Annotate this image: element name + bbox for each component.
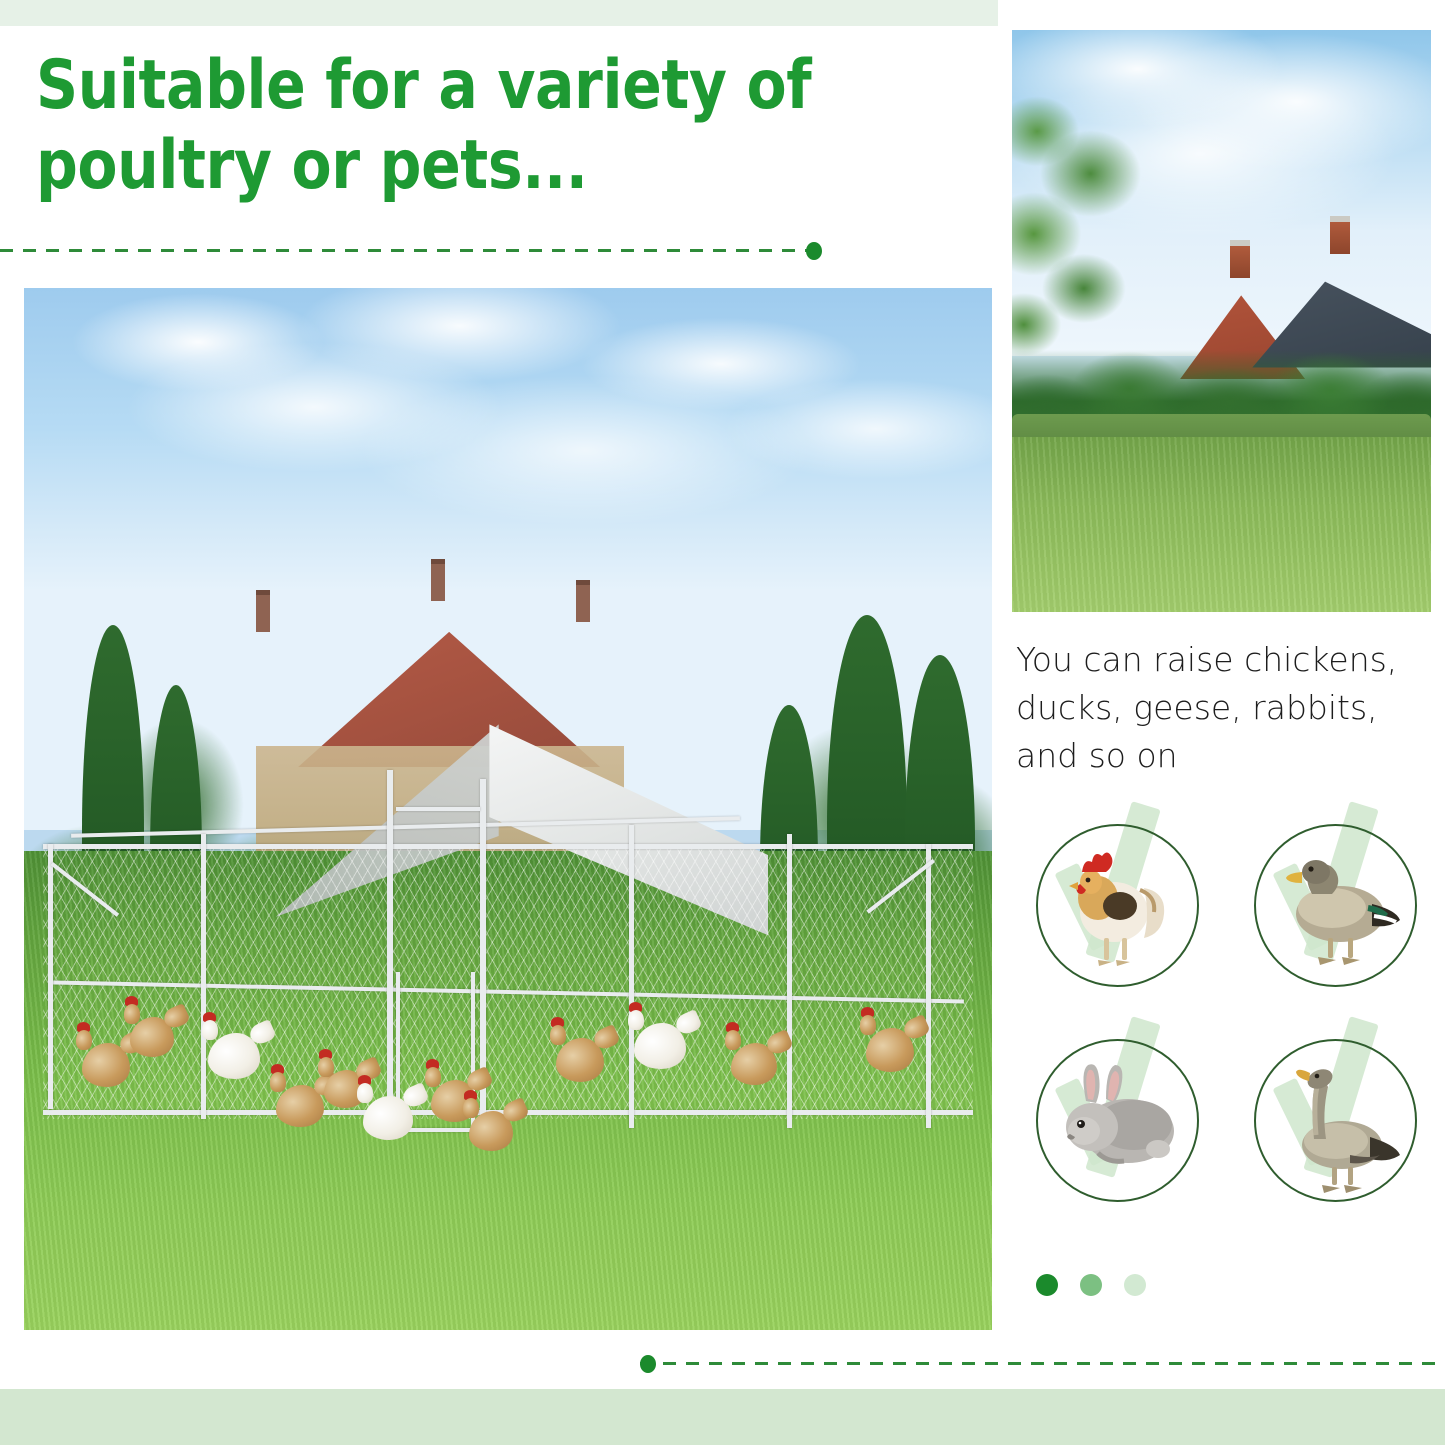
coop-post [629,825,634,1128]
coop-door-header [396,807,480,811]
coop-post [48,844,53,1110]
bottom-accent-band [0,1389,1445,1445]
goose-icon [1254,1039,1417,1202]
dashed-line [640,1362,1445,1365]
coop-post [787,834,792,1127]
pagination-dot-2[interactable] [1080,1274,1102,1296]
animal-badge-goose[interactable] [1248,1027,1438,1222]
pagination-dots[interactable] [1036,1274,1166,1300]
chicken [82,1043,130,1087]
rabbit-icon [1036,1039,1199,1202]
coop-post [387,770,393,1118]
coop-post [926,844,931,1128]
coop-wire-mesh [43,844,972,1119]
chimney-icon [1230,240,1250,278]
dashed-line [0,249,820,252]
chicken [469,1111,513,1151]
animal-icon-grid [1030,812,1430,1222]
chicken [276,1085,324,1127]
duck-icon [1254,824,1417,987]
chicken [130,1017,174,1057]
hero-product-photo [24,288,992,1330]
coop-top-rail [43,844,972,849]
chicken [731,1043,777,1085]
pagination-dot-3[interactable] [1124,1274,1146,1296]
top-divider [0,248,820,253]
chimney-icon [1330,216,1350,254]
animal-badge-rabbit[interactable] [1030,1027,1220,1222]
secondary-lawn-photo [1012,30,1431,612]
chicken [208,1033,260,1079]
lawn [1012,437,1431,612]
top-accent-band [0,0,998,26]
page-title: Suitable for a variety of poultry or pet… [36,46,827,206]
divider-end-dot-icon [806,242,822,260]
chicken [556,1038,604,1082]
animal-badge-duck[interactable] [1248,812,1438,1007]
foreground-tree [1012,77,1154,380]
chimney-icon [256,590,270,632]
headline-line-2: poultry or pets... [36,126,827,206]
rooster-icon [1036,824,1199,987]
coop-post [201,834,206,1118]
chicken [866,1028,914,1072]
animal-badge-chicken[interactable] [1030,812,1220,1007]
feature-caption: You can raise chickens, ducks, geese, ra… [1016,636,1416,780]
infographic-canvas: Suitable for a variety of poultry or pet… [0,0,1445,1445]
divider-start-dot-icon [640,1355,656,1373]
chimney-icon [576,580,590,622]
headline-line-1: Suitable for a variety of [36,46,827,126]
chimney-icon [431,559,445,601]
pagination-dot-1[interactable] [1036,1274,1058,1296]
bottom-divider [640,1361,1445,1366]
